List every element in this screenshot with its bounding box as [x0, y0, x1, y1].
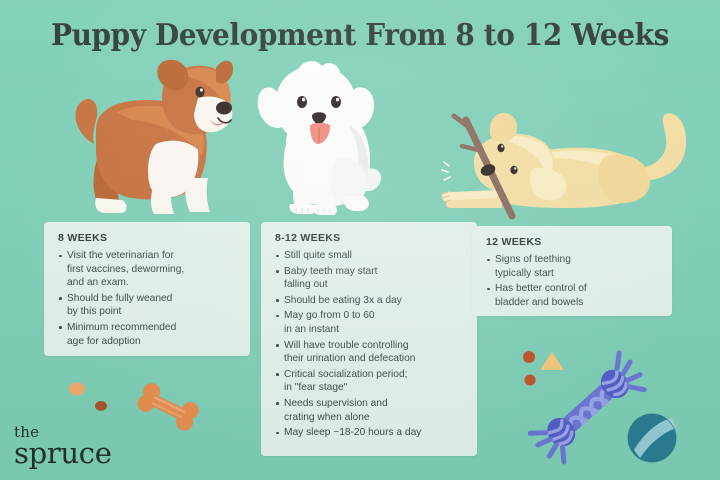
list-item: Signs of teething typically start: [486, 253, 660, 280]
list-item: Should be eating 3x a day: [275, 294, 465, 308]
bullet-list: Still quite small Baby teeth may start f…: [275, 249, 465, 440]
list-item: Baby teeth may start falling out: [275, 265, 465, 292]
logo-line-spruce: spruce: [14, 440, 112, 467]
brown-and-white-puppy-standing-icon: [58, 52, 233, 220]
list-item: May sleep ~18-20 hours a day: [275, 426, 465, 440]
kibble-pieces-icon: [64, 378, 134, 418]
yellow-lab-puppy-with-stick-icon: [418, 88, 714, 224]
white-fluffy-puppy-sitting-icon: [246, 58, 392, 218]
card-8-12-weeks: 8-12 WEEKS Still quite small Baby teeth …: [261, 222, 477, 456]
list-item: Needs supervision and crating when alone: [275, 397, 465, 424]
list-item: Still quite small: [275, 249, 465, 263]
list-item: Will have trouble controlling their urin…: [275, 339, 465, 366]
list-item: Has better control of bladder and bowels: [486, 282, 660, 309]
dog-bone-treat-icon: [130, 382, 205, 434]
card-heading: 8 WEEKS: [58, 232, 238, 244]
rubber-ball-toy-icon: [626, 412, 678, 464]
bullet-list: Visit the veterinarian for first vaccine…: [58, 249, 238, 348]
bullet-list: Signs of teething typically start Has be…: [486, 253, 660, 309]
brand-logo: the spruce: [14, 426, 112, 466]
page-title: Puppy Development From 8 to 12 Weeks: [25, 18, 695, 53]
list-item: Critical socialization period; in "fear …: [275, 368, 465, 395]
card-8-weeks: 8 WEEKS Visit the veterinarian for first…: [44, 222, 250, 356]
card-12-weeks: 12 WEEKS Signs of teething typically sta…: [472, 226, 672, 316]
list-item: May go from 0 to 60 in an instant: [275, 309, 465, 336]
infographic-canvas: 8 WEEKS Visit the veterinarian for first…: [0, 0, 720, 480]
list-item: Should be fully weaned by this point: [58, 292, 238, 319]
card-heading: 12 WEEKS: [486, 236, 660, 248]
card-heading: 8-12 WEEKS: [275, 232, 465, 244]
list-item: Visit the veterinarian for first vaccine…: [58, 249, 238, 290]
list-item: Minimum recommended age for adoption: [58, 321, 238, 348]
